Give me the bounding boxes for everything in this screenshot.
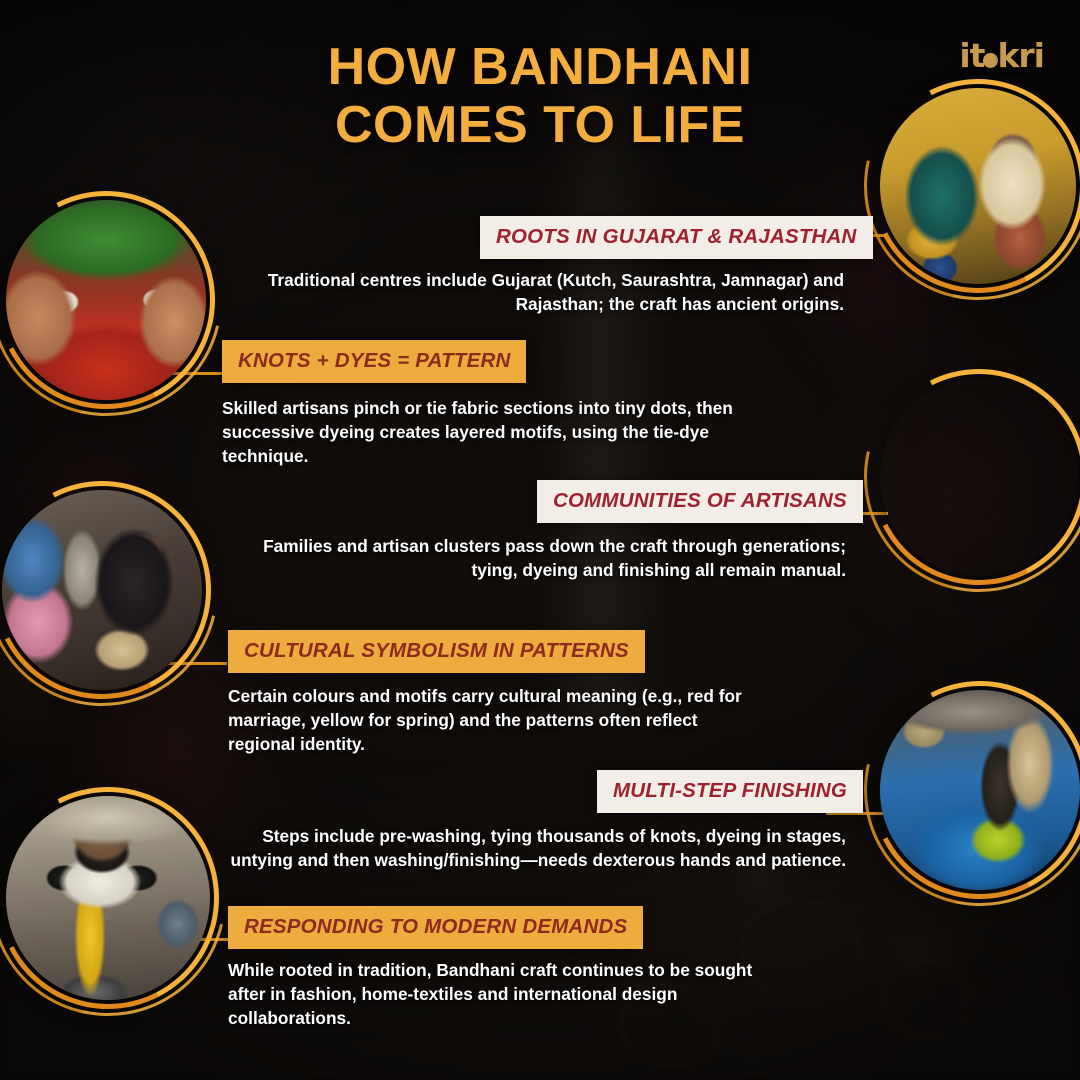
infographic-canvas: HOW BANDHANI COMES TO LIFE itkri ROOTS I… bbox=[0, 0, 1080, 1080]
photo-man-dyeing-yellow-fabric bbox=[6, 796, 210, 1000]
brand-logo[interactable]: itkri bbox=[959, 36, 1044, 75]
section-label-knots-dyes[interactable]: KNOTS + DYES = PATTERN bbox=[222, 340, 526, 383]
photo-blue-dye-vat-swirl-image bbox=[880, 690, 1080, 890]
section-label-modern-demands[interactable]: RESPONDING TO MODERN DEMANDS bbox=[228, 906, 643, 949]
brand-logo-dot-icon bbox=[983, 53, 998, 68]
section-label-cultural-symbolism[interactable]: CULTURAL SYMBOLISM IN PATTERNS bbox=[228, 630, 645, 673]
photo-man-dyeing-yellow-fabric-image bbox=[6, 796, 210, 1000]
brand-logo-text: itkri bbox=[959, 36, 1044, 75]
title-line-2: COMES TO LIFE bbox=[0, 96, 1080, 154]
title-line-1: HOW BANDHANI bbox=[0, 38, 1080, 96]
section-body-modern-demands: While rooted in tradition, Bandhani craf… bbox=[228, 958, 780, 1031]
photo-women-outdoors-tying-image bbox=[2, 490, 202, 690]
section-body-communities: Families and artisan clusters pass down … bbox=[232, 534, 846, 582]
page-title: HOW BANDHANI COMES TO LIFE bbox=[0, 38, 1080, 154]
photo-man-at-blue-dye-tub-image bbox=[880, 378, 1078, 576]
section-label-communities[interactable]: COMMUNITIES OF ARTISANS bbox=[537, 480, 863, 523]
photo-hands-tying-red-fabric-image bbox=[6, 200, 206, 400]
photo-man-at-blue-dye-tub bbox=[880, 378, 1078, 576]
photo-blue-dye-vat-swirl bbox=[880, 690, 1080, 890]
section-body-cultural-symbolism: Certain colours and motifs carry cultura… bbox=[228, 684, 768, 757]
section-label-multi-step-finishing[interactable]: MULTI-STEP FINISHING bbox=[597, 770, 863, 813]
section-body-multi-step-finishing: Steps include pre-washing, tying thousan… bbox=[230, 824, 846, 872]
section-label-roots[interactable]: ROOTS IN GUJARAT & RAJASTHAN bbox=[480, 216, 873, 259]
photo-hands-tying-red-fabric bbox=[6, 200, 206, 400]
section-body-knots-dyes: Skilled artisans pinch or tie fabric sec… bbox=[222, 396, 752, 469]
section-body-roots: Traditional centres include Gujarat (Kut… bbox=[230, 268, 844, 316]
photo-women-outdoors-tying bbox=[2, 490, 202, 690]
